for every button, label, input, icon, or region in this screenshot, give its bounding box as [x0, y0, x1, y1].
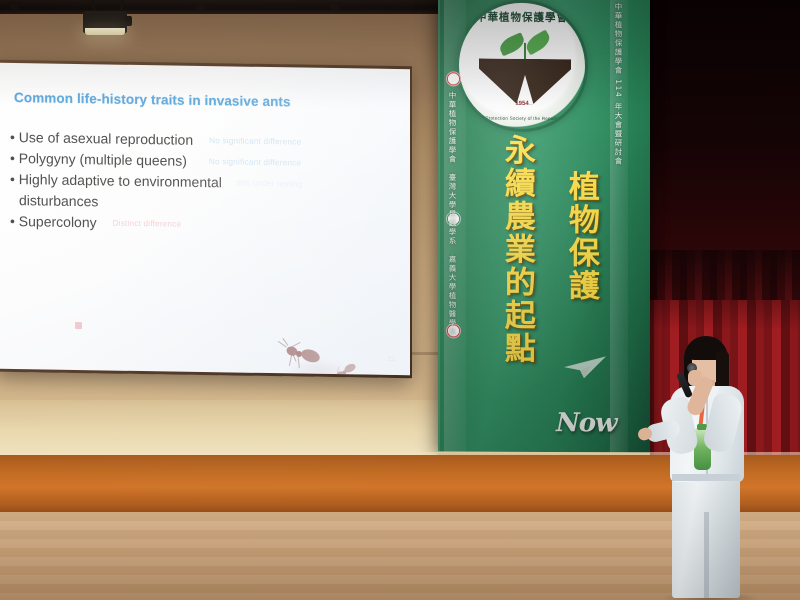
slide-content: Common life-history traits in invasive a…: [0, 63, 410, 376]
bullet-note: No significant difference: [209, 157, 301, 167]
banner-now-text: Now: [556, 408, 617, 438]
banner-headline-right: 植物保護: [564, 170, 596, 302]
organizer-logo-icon: [446, 71, 461, 86]
rail-clip-icon: [330, 2, 339, 11]
bullet-text: Use of asexual reproduction: [10, 129, 193, 150]
lecture-hall-scene: Common life-history traits in invasive a…: [0, 0, 800, 600]
slide-bullet-list: Use of asexual reproduction No significa…: [10, 129, 396, 237]
bullet-text: Highly adaptive to environmental: [10, 171, 222, 192]
list-item: Highly adaptive to environmental Still u…: [10, 171, 396, 195]
paper-plane-icon: [562, 354, 608, 380]
bullet-note: Distinct difference: [113, 219, 182, 229]
presenter-hand: [688, 370, 702, 386]
seal-year: 1954: [459, 100, 585, 107]
bullet-note: Still under testing: [236, 179, 303, 189]
trouser-seam: [704, 512, 709, 598]
slide-marker-dot: [75, 322, 82, 329]
spotlight-lens-icon: [85, 28, 125, 35]
banner-organizers-text: 中華植物保護學會 臺灣大學昆蟲學系 嘉義大學植物醫學系: [447, 91, 458, 443]
society-seal-logo: 中華植物保護學會 1954 The Plant Protection Socie…: [456, 0, 588, 132]
seal-chinese-name: 中華植物保護學會: [459, 9, 585, 26]
slide-page-number: 21: [388, 356, 396, 363]
list-item: Polygyny (multiple queens) No significan…: [10, 150, 396, 174]
list-item: disturbances: [10, 192, 396, 216]
projection-screen: Common life-history traits in invasive a…: [0, 63, 410, 376]
ants-photo: [274, 329, 384, 375]
rail-clip-icon: [10, 2, 19, 11]
presenter-waistband: [672, 474, 740, 481]
slide-title: Common life-history traits in invasive a…: [14, 90, 396, 111]
ceiling-lighting-rail: [0, 0, 460, 14]
list-item: Use of asexual reproduction No significa…: [10, 129, 396, 153]
banner-headline-left: 永續農業的起點: [500, 134, 532, 365]
bullet-note: No significant difference: [209, 137, 301, 147]
presenter: [648, 336, 768, 600]
bullet-text: Polygyny (multiple queens): [10, 150, 187, 171]
rail-clip-icon: [196, 2, 205, 11]
bullet-text: Supercolony: [10, 213, 97, 232]
seal-english-name: The Plant Protection Society of the Repu…: [459, 115, 585, 121]
spotlight-knob-icon: [124, 16, 132, 26]
bullet-text-continuation: disturbances: [10, 192, 98, 211]
event-banner: 中華植物保護學會 1954 The Plant Protection Socie…: [438, 0, 650, 457]
stage-wall-lower-panel: [0, 400, 470, 460]
list-item: Supercolony Distinct difference: [10, 213, 396, 237]
banner-event-title-text: 中華植物保護學會 114 年大會暨研討會: [613, 2, 624, 242]
